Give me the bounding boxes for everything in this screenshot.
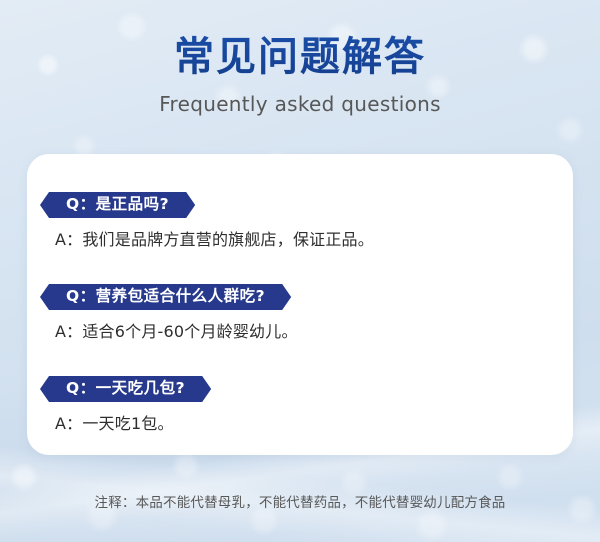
footer-note: 注释：本品不能代替母乳，不能代替药品，不能代替婴幼儿配方食品 — [0, 491, 600, 511]
question-badge-3[interactable]: Q：一天吃几包? — [40, 376, 211, 402]
answer-text-2: A：适合6个月-60个月龄婴幼儿。 — [55, 321, 573, 343]
question-badge-2[interactable]: Q：营养包适合什么人群吃? — [40, 284, 291, 310]
page-subtitle: Frequently asked questions — [0, 92, 600, 116]
faq-card: Q：是正品吗? A：我们是品牌方直营的旗舰店，保证正品。 Q：营养包适合什么人群… — [27, 154, 573, 455]
answer-text-3: A：一天吃1包。 — [55, 413, 573, 435]
faq-page: 常见问题解答 Frequently asked questions Q：是正品吗… — [0, 0, 600, 542]
page-title: 常见问题解答 — [0, 0, 600, 80]
question-badge-1[interactable]: Q：是正品吗? — [40, 192, 195, 218]
faq-item-1: Q：是正品吗? A：我们是品牌方直营的旗舰店，保证正品。 — [27, 192, 573, 251]
faq-item-3: Q：一天吃几包? A：一天吃1包。 — [27, 376, 573, 435]
page-header: 常见问题解答 Frequently asked questions — [0, 0, 600, 116]
answer-text-1: A：我们是品牌方直营的旗舰店，保证正品。 — [55, 229, 573, 251]
faq-item-2: Q：营养包适合什么人群吃? A：适合6个月-60个月龄婴幼儿。 — [27, 284, 573, 343]
faq-list: Q：是正品吗? A：我们是品牌方直营的旗舰店，保证正品。 Q：营养包适合什么人群… — [27, 154, 573, 435]
